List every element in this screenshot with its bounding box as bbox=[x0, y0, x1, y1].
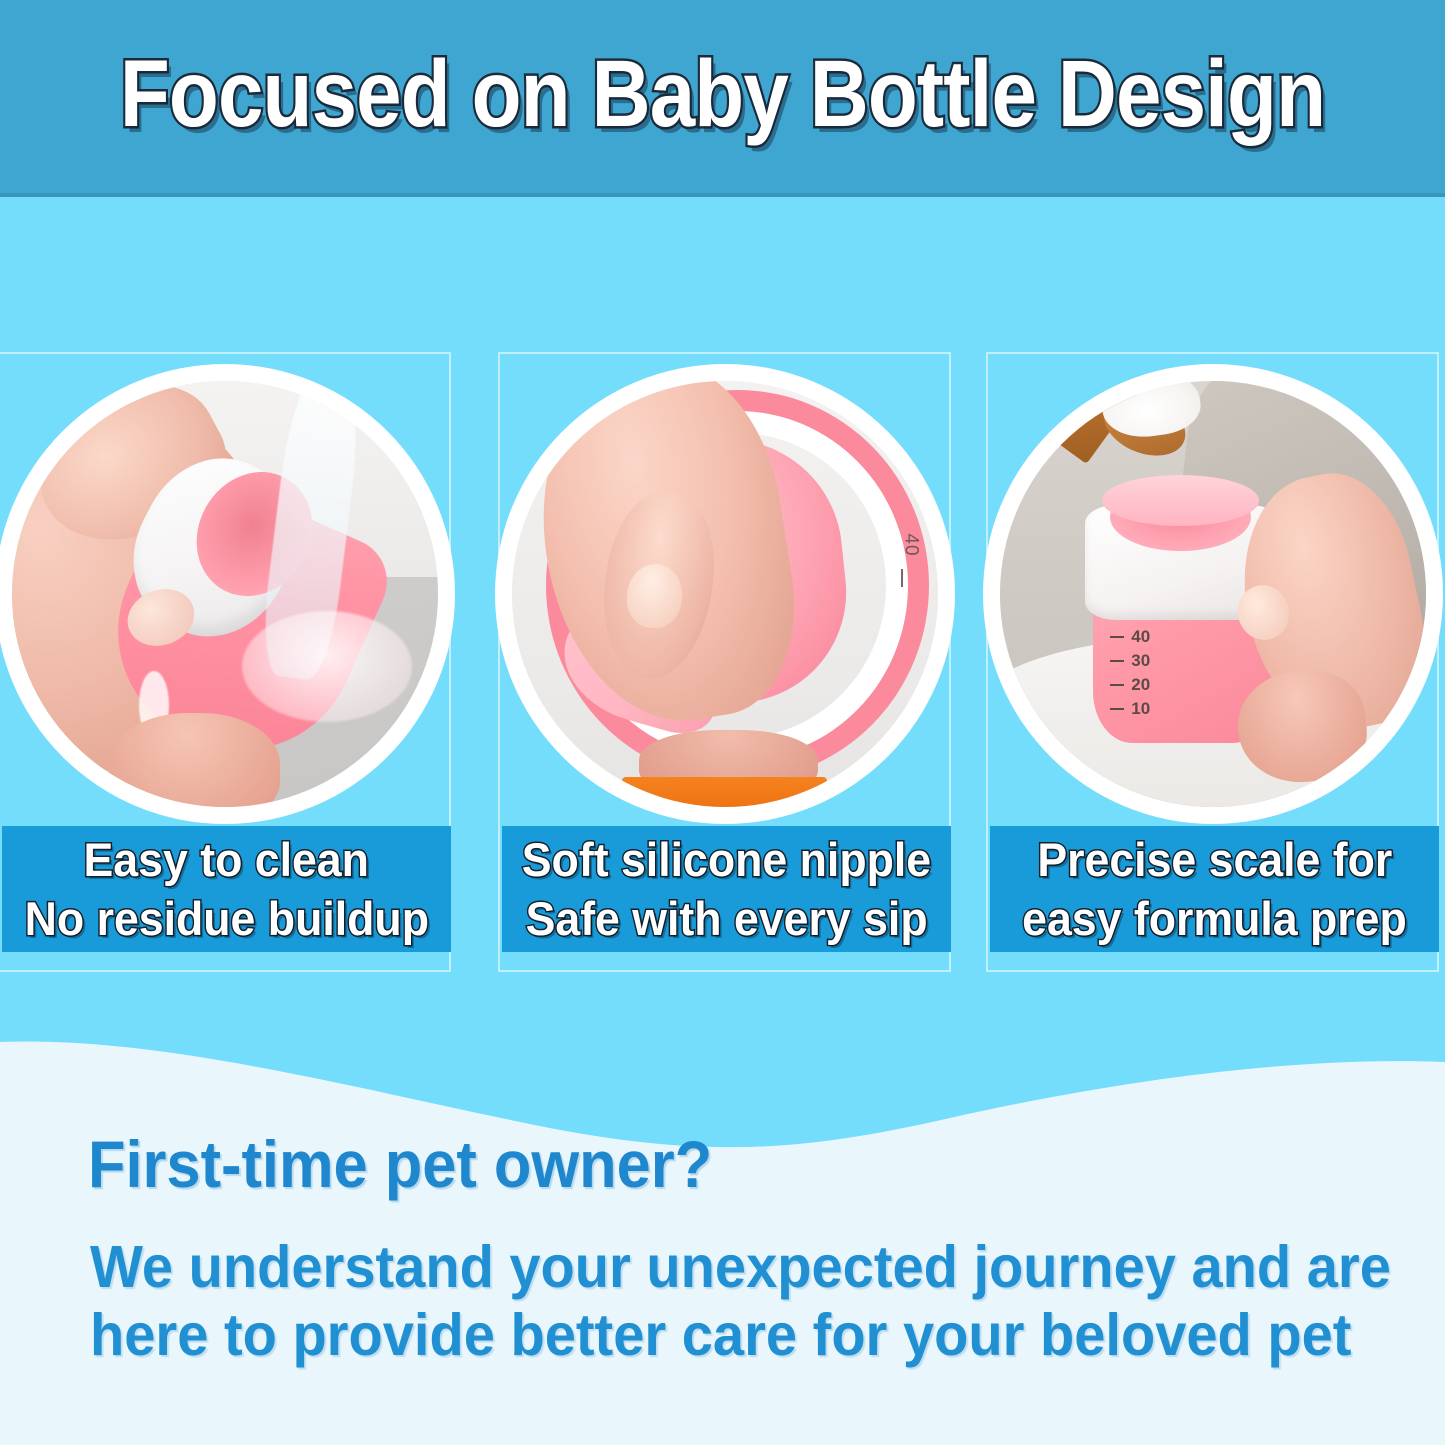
page-title: Focused on Baby Bottle Design bbox=[101, 40, 1344, 148]
measuring-formula-powder-into-bottle-image: 40 30 20 10 bbox=[1000, 381, 1426, 807]
scale-mark-label: 20 bbox=[1131, 676, 1150, 693]
lower-fingers-shape bbox=[109, 713, 279, 807]
scale-mark-label: 30 bbox=[1131, 652, 1150, 669]
scale-tick-icon bbox=[1110, 708, 1124, 710]
scale-mark: 10 bbox=[1110, 700, 1150, 717]
scale-mark: 40 bbox=[1110, 628, 1150, 645]
bottle-rinsed-under-running-water-image bbox=[12, 381, 438, 807]
bottle-measurement-scale: 40 30 20 10 bbox=[1110, 628, 1150, 717]
caption-bar-easy-to-clean: Easy to clean No residue buildup bbox=[2, 826, 451, 952]
scale-tick-icon bbox=[901, 569, 903, 587]
scale-tick-icon bbox=[1110, 636, 1124, 638]
feature-cards-row: Easy to clean No residue buildup 40 bbox=[0, 352, 1445, 974]
caption-line-1: Precise scale for bbox=[1037, 830, 1392, 889]
caption-line-2: No residue buildup bbox=[24, 889, 428, 948]
feature-card-soft-nipple: 40 Soft silicone nipple Safe with every … bbox=[498, 352, 951, 972]
hand-squeezing-soft-silicone-nipple-image: 40 bbox=[512, 381, 938, 807]
scale-tick-icon bbox=[1110, 660, 1124, 662]
bottom-heading: First-time pet owner? bbox=[88, 1128, 712, 1200]
caption-bar-soft-nipple: Soft silicone nipple Safe with every sip bbox=[502, 826, 951, 952]
caption-bar-precise-scale: Precise scale for easy formula prep bbox=[990, 826, 1439, 952]
bottom-paragraph: We understand your unexpected journey an… bbox=[90, 1233, 1297, 1369]
photo-circle-soft-nipple: 40 bbox=[495, 364, 955, 824]
scale-mark-label: 40 bbox=[1131, 628, 1150, 645]
scale-mark-label: 10 bbox=[1131, 700, 1150, 717]
bottom-paragraph-line-2: here to provide better care for your bel… bbox=[90, 1301, 1297, 1369]
product-feature-poster: Focused on Baby Bottle Design bbox=[0, 0, 1445, 1445]
bottle-rim-lip bbox=[1102, 475, 1260, 526]
scale-mark: 20 bbox=[1110, 676, 1150, 693]
bottom-paragraph-line-1: We understand your unexpected journey an… bbox=[90, 1233, 1297, 1301]
water-splash bbox=[242, 611, 412, 722]
bottom-text-block: First-time pet owner? We understand your… bbox=[0, 1000, 1445, 1445]
bottom-message-section: First-time pet owner? We understand your… bbox=[0, 1000, 1445, 1445]
caption-line-1: Soft silicone nipple bbox=[522, 830, 931, 889]
scale-tick-icon bbox=[1110, 684, 1124, 686]
photo-circle-precise-scale: 40 30 20 10 bbox=[983, 364, 1443, 824]
feature-card-precise-scale: 40 30 20 10 bbox=[986, 352, 1439, 972]
caption-line-2: easy formula prep bbox=[1022, 889, 1407, 948]
header-banner: Focused on Baby Bottle Design bbox=[0, 0, 1445, 197]
scale-label-40: 40 bbox=[900, 534, 922, 557]
orange-surface-strip bbox=[622, 777, 826, 807]
scale-mark: 30 bbox=[1110, 652, 1150, 669]
caption-line-1: Easy to clean bbox=[84, 830, 369, 889]
photo-circle-easy-to-clean bbox=[0, 364, 455, 824]
caption-line-2: Safe with every sip bbox=[525, 889, 927, 948]
feature-card-easy-to-clean: Easy to clean No residue buildup bbox=[0, 352, 451, 972]
